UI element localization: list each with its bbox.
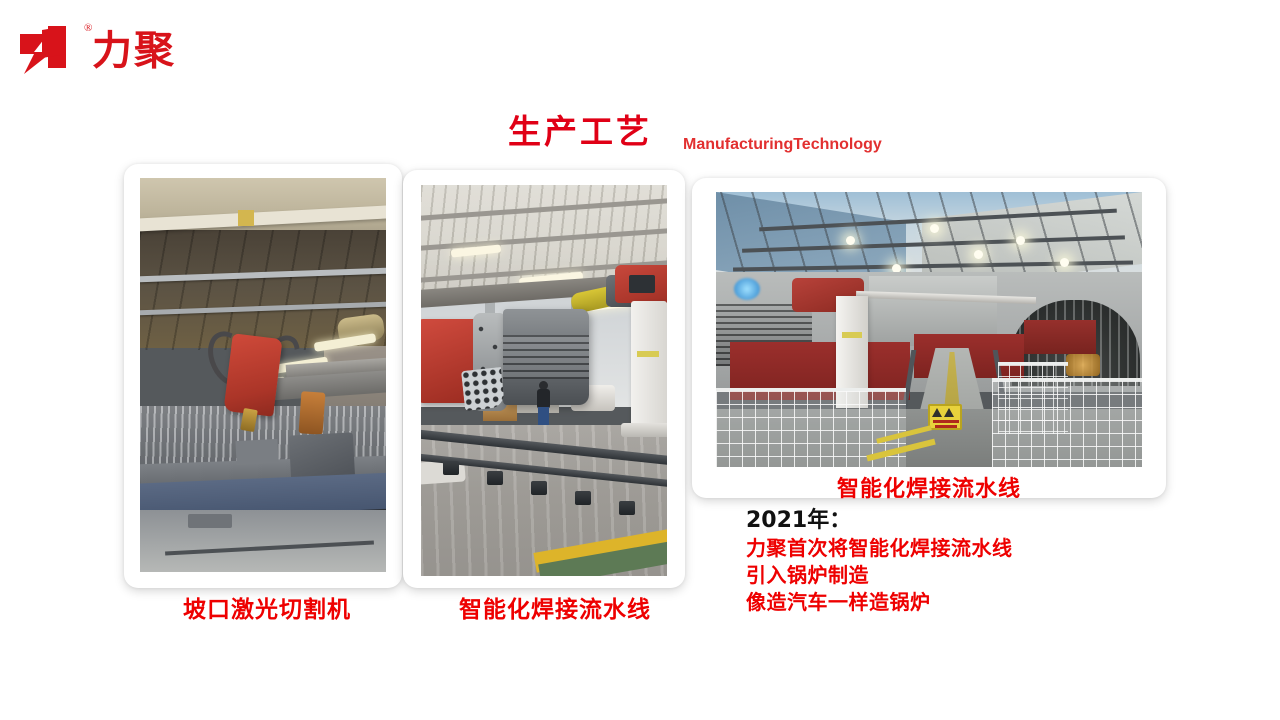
note-line-2: 引入锅炉制造 (746, 562, 1166, 589)
photo-caption-3: 智能化焊接流水线 (692, 471, 1166, 503)
note-line-3: 像造汽车一样造锅炉 (746, 589, 1166, 616)
lightning-bolt-mark-icon (18, 24, 80, 76)
note-year: 2021年： (746, 506, 1166, 535)
photo-caption-2: 智能化焊接流水线 (459, 597, 651, 623)
milestone-note: 2021年： 力聚首次将智能化焊接流水线 引入锅炉制造 像造汽车一样造锅炉 (746, 506, 1166, 616)
logo-wordmark: 力聚 (92, 26, 176, 76)
photo-welding-line-1 (421, 185, 667, 576)
photo-welding-line-2 (716, 192, 1142, 467)
note-line-1: 力聚首次将智能化焊接流水线 (746, 535, 1166, 562)
photo-bevel-laser-cutter (140, 178, 386, 572)
photo-card-bevel-laser-cutter[interactable] (124, 164, 402, 588)
photo-card-welding-line-2[interactable]: 智能化焊接流水线 (692, 178, 1166, 498)
photo-caption-1: 坡口激光切割机 (183, 597, 351, 623)
page-title: 生产工艺 (508, 113, 652, 151)
brand-logo: ® 力聚 (18, 22, 248, 82)
warning-sign-icon (928, 404, 962, 430)
page-subtitle: ManufacturingTechnology (683, 135, 882, 155)
photo-card-welding-line-1[interactable] (403, 170, 685, 588)
